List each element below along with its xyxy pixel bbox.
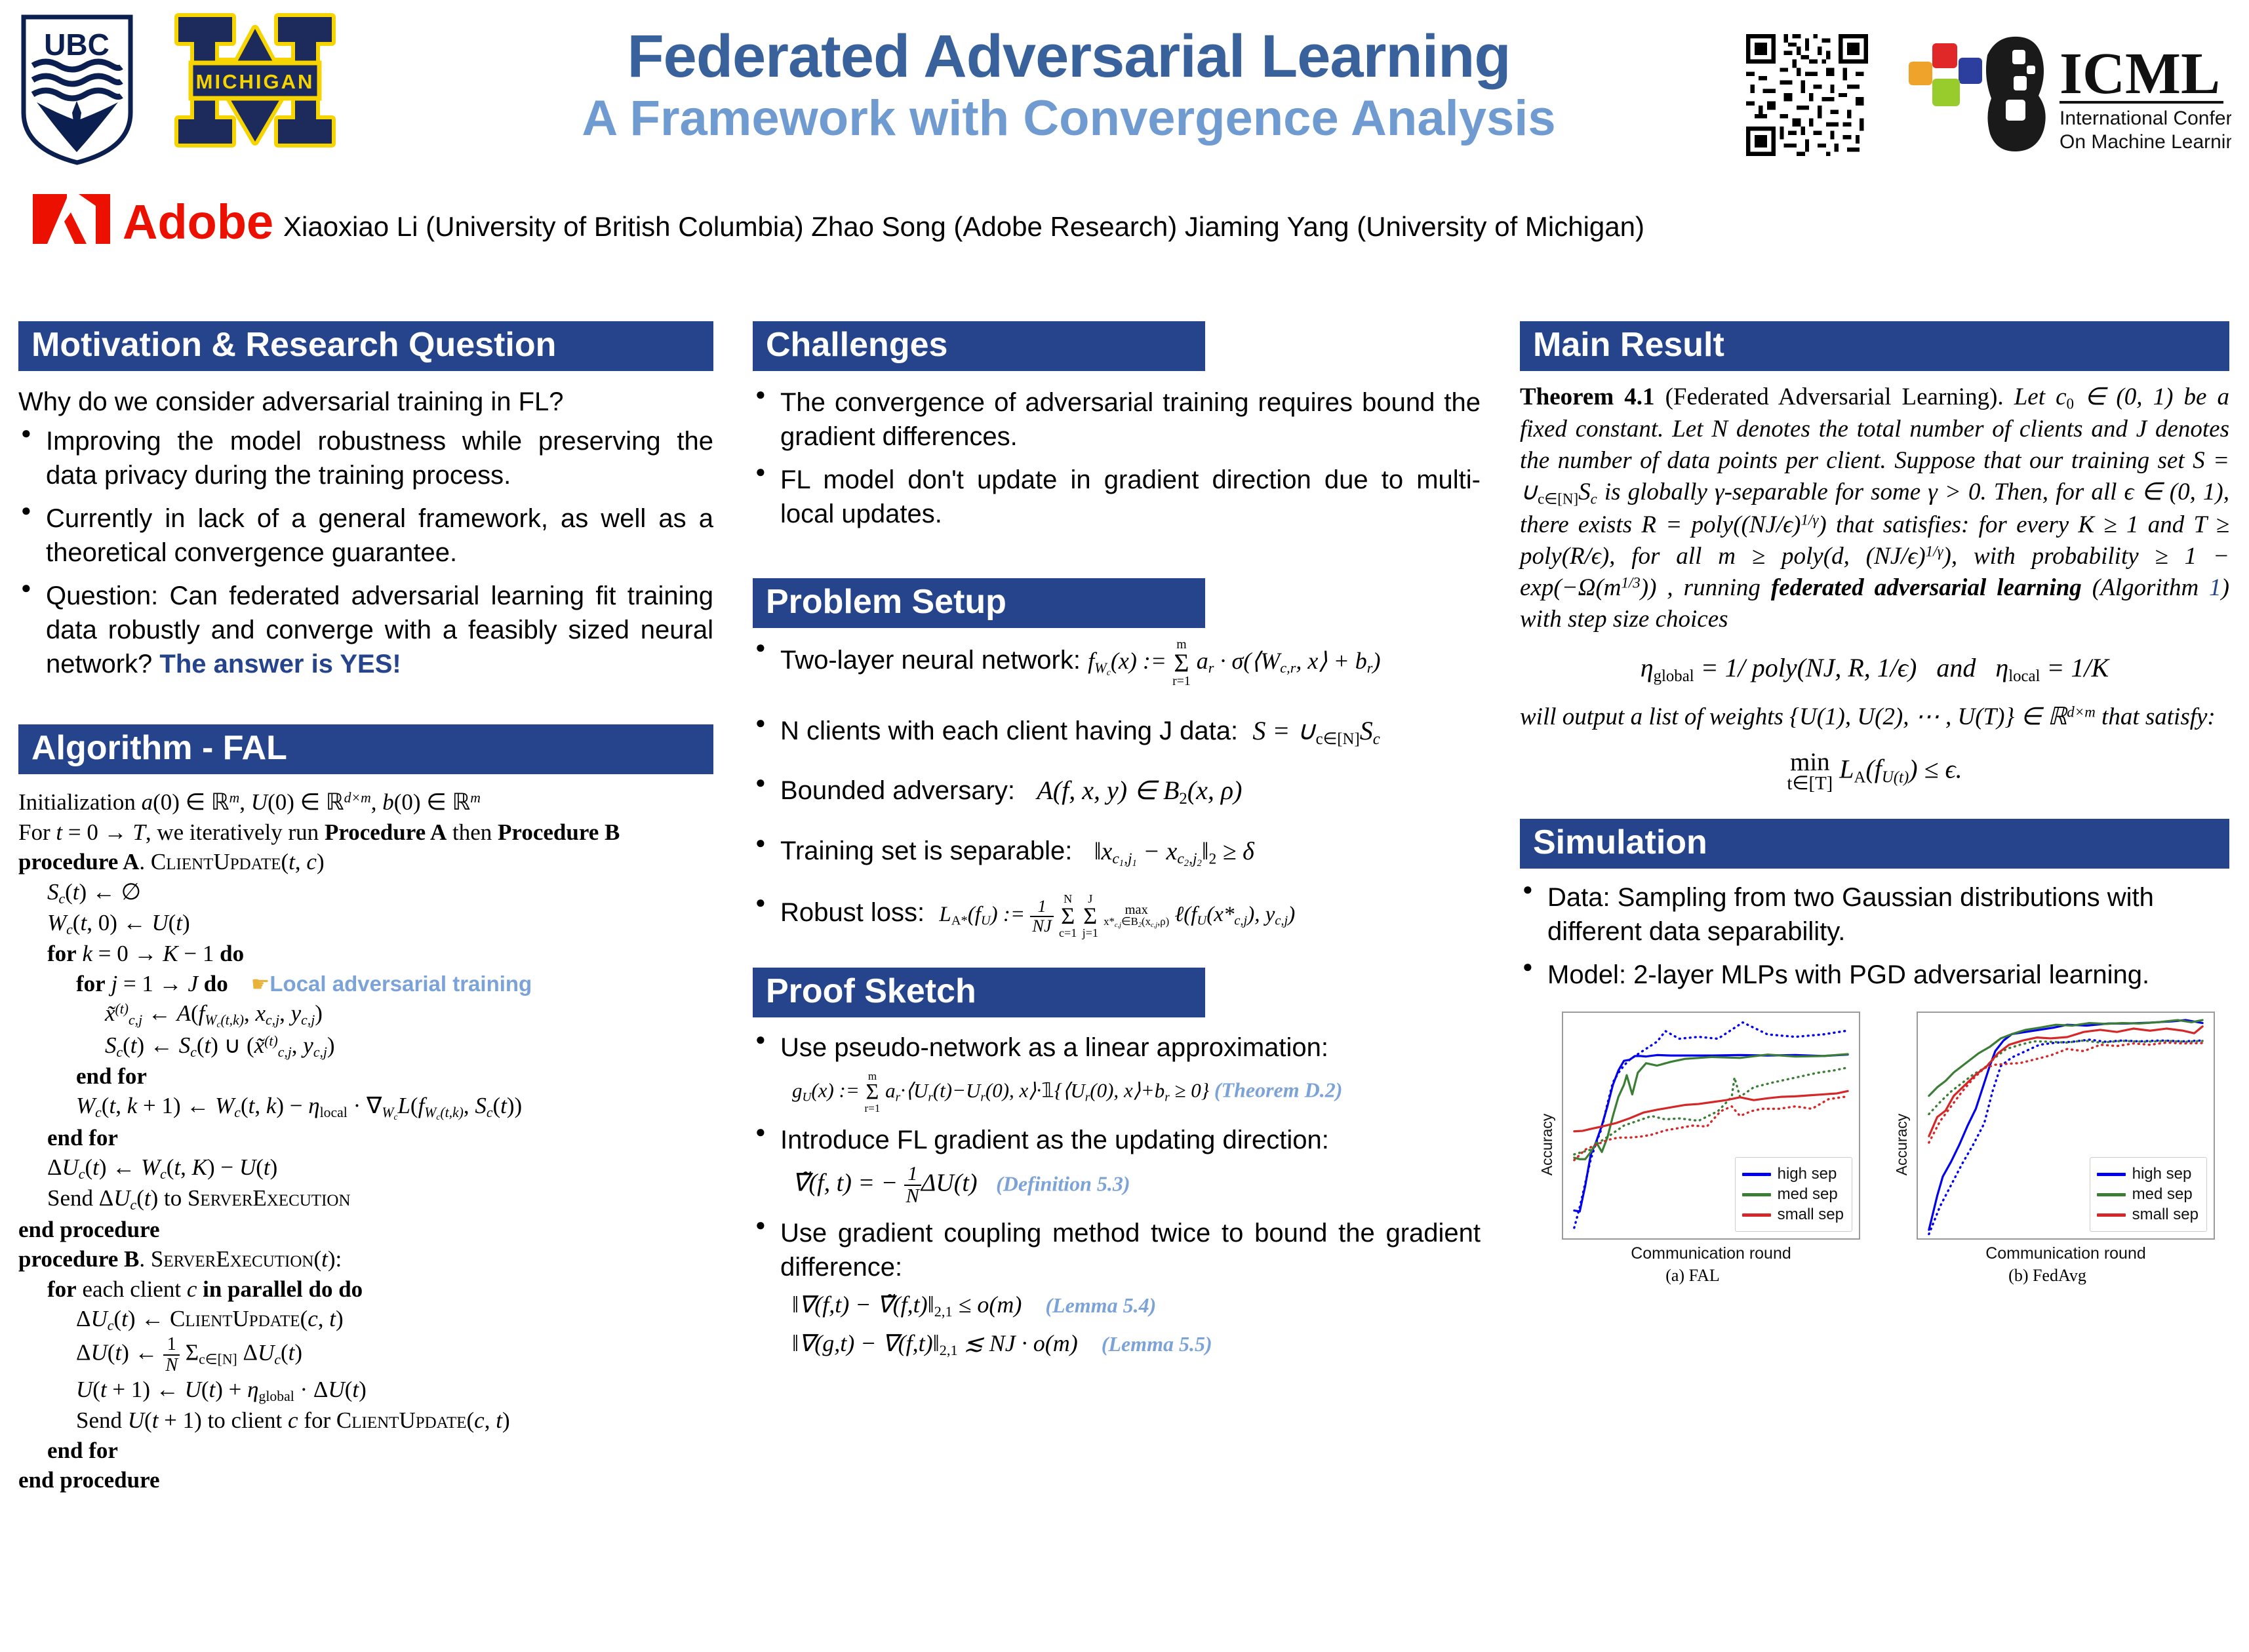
- algo-line-endproc-a: end procedure: [18, 1215, 713, 1245]
- algo-line-proc-a: procedure A. ClientUpdate(t, c): [18, 847, 713, 877]
- list-item: Data: Sampling from two Gaussian distrib…: [1520, 880, 2229, 949]
- proof-sketch-list-3: Use gradient coupling method twice to bo…: [753, 1216, 1481, 1284]
- page-subtitle: A Framework with Convergence Analysis: [426, 91, 1711, 146]
- problem-setup-eq-0: fWc(x) := mΣr=1 ar · σ(⟨Wc,r, x⟩ + br): [1088, 648, 1380, 674]
- poster-root: UBC MICHIGAN: [0, 0, 2249, 1652]
- algo-line-endproc-b: end procedure: [18, 1465, 713, 1495]
- legend-label: med sep: [2132, 1185, 2193, 1204]
- legend-swatch: [2097, 1173, 2126, 1176]
- legend-swatch: [1742, 1213, 1771, 1217]
- proof-sketch-list-2: Introduce FL gradient as the updating di…: [753, 1123, 1481, 1157]
- proof-ref-2: (Lemma 5.4): [1045, 1293, 1156, 1317]
- chart-series-med-sep-solid: [1929, 1020, 2202, 1096]
- algo-line-send-delta: Send ΔUc(t) to ServerExecution: [18, 1183, 713, 1214]
- authors-line: Xiaoxiao Li (University of British Colum…: [275, 211, 1652, 243]
- theorem-body-bold: federated adversarial learning: [1771, 574, 2082, 601]
- list-item: Improving the model robustness while pre…: [18, 424, 713, 492]
- svg-text:Adobe: Adobe: [123, 195, 273, 248]
- chart-fal-ylabel: Accuracy: [1538, 1114, 1556, 1176]
- algo-line-wc-init: Wc(t, 0) ← U(t): [18, 908, 713, 939]
- section-header-proof-sketch: Proof Sketch: [753, 968, 1205, 1017]
- legend-item: small sep: [2097, 1206, 2199, 1224]
- theorem-body-3-block: will output a list of weights {U(1), U(2…: [1520, 701, 2229, 734]
- theorem-name: (Federated Adversarial Learning).: [1665, 383, 2004, 410]
- algo-line-endfor-k: end for: [18, 1123, 713, 1153]
- chart-fal: Accuracy 5060708090020406080100high sepm…: [1520, 1004, 1865, 1286]
- legend-swatch: [1742, 1193, 1771, 1196]
- simulation-charts: Accuracy 5060708090020406080100high sepm…: [1520, 1004, 2229, 1286]
- simulation-bullet-list: Data: Sampling from two Gaussian distrib…: [1520, 880, 2229, 992]
- list-item: Training set is separable: ‖xc1,j1 − xc2…: [753, 834, 1481, 871]
- algo-line-sc-init: Sc(t) ← ∅: [18, 877, 713, 908]
- list-item: The convergence of adversarial training …: [753, 385, 1481, 454]
- list-item: Introduce FL gradient as the updating di…: [753, 1123, 1481, 1157]
- proof-eq-fl-gradient: ∇̃(f, t) = − 1NΔU(t) (Definition 5.3): [792, 1164, 1481, 1207]
- section-header-algorithm: Algorithm - FAL: [18, 724, 713, 774]
- chart-fal-wrapper: Accuracy 5060708090020406080100high sepm…: [1520, 1004, 1865, 1286]
- legend-label: small sep: [2132, 1206, 2199, 1224]
- list-item: FL model don't update in gradient direct…: [753, 463, 1481, 531]
- column-1: Motivation & Research Question Why do we…: [18, 321, 713, 1495]
- section-header-challenges: Challenges: [753, 321, 1205, 371]
- icml-subtitle-1: International Conference: [2060, 108, 2231, 129]
- legend-item: high sep: [2097, 1165, 2199, 1183]
- motivation-lead: Why do we consider adversarial training …: [18, 385, 713, 419]
- problem-setup-label-0: Two-layer neural network:: [780, 646, 1081, 675]
- legend-label: small sep: [1778, 1206, 1844, 1224]
- algo-line-wc-update: Wc(t, k + 1) ← Wc(t, k) − ηlocal · ∇WcL(…: [18, 1091, 713, 1122]
- proof-eq-lemma55: ‖∇(g,t) − ∇(f,t)‖2,1 ≲ NJ · o(m) (Lemma …: [792, 1329, 1481, 1359]
- theorem-body-1: Let c0 ∈ (0, 1) be a fixed constant. Let…: [1520, 383, 2229, 601]
- algo-line-send-u: Send U(t + 1) to client c for ClientUpda…: [18, 1406, 713, 1436]
- algorithm-pseudocode: Initialization a(0) ∈ ℝm, U(0) ∈ ℝd×m, b…: [18, 787, 713, 1495]
- algo-line-endfor-b: end for: [18, 1436, 713, 1466]
- problem-setup-label-4: Robust loss:: [780, 898, 925, 927]
- chart-fal-caption: (a) FAL: [1520, 1266, 1865, 1286]
- chart-fal-plot-area: 5060708090020406080100high sepmed sepsma…: [1562, 1012, 1860, 1240]
- list-item: Use gradient coupling method twice to bo…: [753, 1216, 1481, 1284]
- algo-line-adv-example: x̃(t)c,j ← A(fWc(t,k), xc,j, yc,j): [18, 998, 713, 1030]
- problem-setup-label-2: Bounded adversary:: [780, 776, 1015, 805]
- section-header-simulation: Simulation: [1520, 819, 2229, 869]
- algo-line-endfor-j: end for: [18, 1061, 713, 1091]
- svg-text:ICML: ICML: [2060, 41, 2220, 106]
- legend-item: high sep: [1742, 1165, 1844, 1183]
- problem-setup-label-3: Training set is separable:: [780, 836, 1072, 865]
- chart-legend: high sepmed sepsmall sep: [1735, 1157, 1852, 1232]
- svg-text:UBC: UBC: [44, 28, 109, 62]
- adobe-logo: Adobe: [28, 190, 290, 248]
- algo-line-client-update: ΔUc(t) ← ClientUpdate(c, t): [18, 1304, 713, 1335]
- chart-fedavg: Accuracy 5060708090020406080100high sepm…: [1875, 1004, 2220, 1286]
- pointing-hand-icon: ☛: [251, 972, 270, 996]
- algo-line-delta-uc: ΔUc(t) ← Wc(t, K) − U(t): [18, 1152, 713, 1183]
- legend-item: small sep: [1742, 1206, 1844, 1224]
- chart-fedavg-ylabel: Accuracy: [1893, 1114, 1911, 1176]
- legend-item: med sep: [2097, 1185, 2199, 1204]
- chart-series-small-sep-dotted: [1929, 1042, 2202, 1143]
- algo-line-for-k: for k = 0 → K − 1 do: [18, 939, 713, 969]
- algo-line-init: Initialization a(0) ∈ ℝm, U(0) ∈ ℝd×m, b…: [18, 787, 713, 817]
- michigan-logo: MICHIGAN: [169, 13, 341, 147]
- icml-logo: ICML International Conference On Machine…: [1903, 28, 2231, 159]
- algo-line-delta-u: ΔU(t) ← 1N Σc∈[N] ΔUc(t): [18, 1335, 713, 1375]
- svg-text:MICHIGAN: MICHIGAN: [196, 70, 315, 93]
- chart-legend: high sepmed sepsmall sep: [2090, 1157, 2207, 1232]
- equation-min-loss: mint∈[T] LA(fU(t)) ≤ ϵ.: [1520, 751, 2229, 793]
- chart-fedavg-plot-area: 5060708090020406080100high sepmed sepsma…: [1917, 1012, 2215, 1240]
- list-item: Robust loss: LA*(fU) := 1NJ NΣc=1 JΣj=1 …: [753, 894, 1481, 939]
- legend-swatch: [2097, 1193, 2126, 1196]
- legend-label: med sep: [1778, 1185, 1838, 1204]
- chart-fal-xlabel: Communication round: [1562, 1244, 1860, 1263]
- section-header-motivation: Motivation & Research Question: [18, 321, 713, 371]
- section-header-problem-setup: Problem Setup: [753, 578, 1205, 628]
- chart-fedavg-caption: (b) FedAvg: [1875, 1266, 2220, 1286]
- legend-label: high sep: [1778, 1165, 1837, 1183]
- problem-setup-list: Two-layer neural network: fWc(x) := mΣr=…: [753, 639, 1481, 939]
- equation-step-sizes: ηglobal = 1/ poly(NJ, R, 1/ϵ) and ηlocal…: [1520, 652, 2229, 686]
- list-item: N clients with each client having J data…: [753, 714, 1481, 750]
- algo-line-foreach-client: for each client c in parallel do do: [18, 1274, 713, 1305]
- motivation-answer-highlight: The answer is YES!: [159, 650, 401, 678]
- icml-subtitle-2: On Machine Learning: [2060, 131, 2231, 153]
- legend-label: high sep: [2132, 1165, 2192, 1183]
- list-item: Use pseudo-network as a linear approxima…: [753, 1031, 1481, 1065]
- title-block: Federated Adversarial Learning A Framewo…: [426, 25, 1711, 146]
- column-2: Challenges The convergence of adversaria…: [753, 321, 1481, 1368]
- legend-item: med sep: [1742, 1185, 1844, 1204]
- legend-swatch: [2097, 1213, 2126, 1217]
- algo-line-sc-union: Sc(t) ← Sc(t) ∪ (x̃(t)c,j, yc,j): [18, 1031, 713, 1061]
- list-item: Bounded adversary: A(f, x, y) ∈ B2(x, ρ): [753, 774, 1481, 810]
- list-item: Question: Can federated adversarial lear…: [18, 579, 713, 681]
- ubc-logo: UBC: [20, 14, 134, 165]
- problem-setup-eq-4: LA*(fU) := 1NJ NΣc=1 JΣj=1 maxx*c,j∈B2(x…: [939, 903, 1295, 926]
- problem-setup-label-1: N clients with each client having J data…: [780, 717, 1238, 745]
- algo-line-u-next: U(t + 1) ← U(t) + ηglobal · ΔU(t): [18, 1375, 713, 1406]
- qr-code-icon[interactable]: [1746, 34, 1868, 156]
- poster-header: UBC MICHIGAN: [0, 0, 2249, 272]
- poster-columns: Motivation & Research Question Why do we…: [0, 321, 2249, 1652]
- legend-swatch: [1742, 1173, 1771, 1176]
- proof-ref-0: (Theorem D.2): [1214, 1078, 1343, 1102]
- proof-eq-pseudo-network: gU(x) := mΣr=1 ar·⟨Ur(t)−Ur(0), x⟩·𝟙{⟨Ur…: [792, 1071, 1481, 1114]
- proof-eq-lemma54: ‖∇(f,t) − ∇̃(f,t)‖2,1 ≤ o(m) (Lemma 5.4): [792, 1291, 1481, 1320]
- chart-fedavg-xlabel: Communication round: [1917, 1244, 2215, 1263]
- list-item: Model: 2-layer MLPs with PGD adversarial…: [1520, 958, 2229, 992]
- problem-setup-eq-2: A(f, x, y) ∈ B2(x, ρ): [1037, 776, 1242, 805]
- section-header-main-result: Main Result: [1520, 321, 2229, 371]
- algo-line-proc-b: procedure B. ServerExecution(t):: [18, 1244, 713, 1274]
- list-item: Two-layer neural network: fWc(x) := mΣr=…: [753, 639, 1481, 688]
- proof-ref-3: (Lemma 5.5): [1102, 1332, 1212, 1356]
- proof-sketch-list: Use pseudo-network as a linear approxima…: [753, 1031, 1481, 1065]
- chart-series-med-sep-dotted: [1929, 1040, 2202, 1114]
- algo-line-for-t: For t = 0 → T, we iteratively run Proced…: [18, 817, 713, 848]
- chart-fedavg-wrapper: Accuracy 5060708090020406080100high sepm…: [1875, 1004, 2220, 1286]
- theorem-label: Theorem 4.1: [1520, 383, 1655, 410]
- proof-ref-1: (Definition 5.3): [996, 1172, 1130, 1196]
- problem-setup-eq-3: ‖xc1,j1 − xc2,j2‖2 ≥ δ: [1094, 838, 1254, 865]
- list-item: Currently in lack of a general framework…: [18, 501, 713, 570]
- column-3: Main Result Theorem 4.1 (Federated Adver…: [1520, 321, 2229, 1286]
- algo-annotation: Local adversarial training: [269, 972, 532, 996]
- algo-line-for-j: for j = 1 → J do ☛Local adversarial trai…: [18, 969, 713, 999]
- theorem-block: Theorem 4.1 (Federated Adversarial Learn…: [1520, 382, 2229, 635]
- chart-series-med-sep-solid: [1574, 1054, 1848, 1159]
- problem-setup-eq-1: S = ∪c∈[N]Sc: [1252, 716, 1380, 745]
- challenges-bullet-list: The convergence of adversarial training …: [753, 385, 1481, 531]
- page-title: Federated Adversarial Learning: [426, 25, 1711, 88]
- motivation-bullet-list: Improving the model robustness while pre…: [18, 424, 713, 681]
